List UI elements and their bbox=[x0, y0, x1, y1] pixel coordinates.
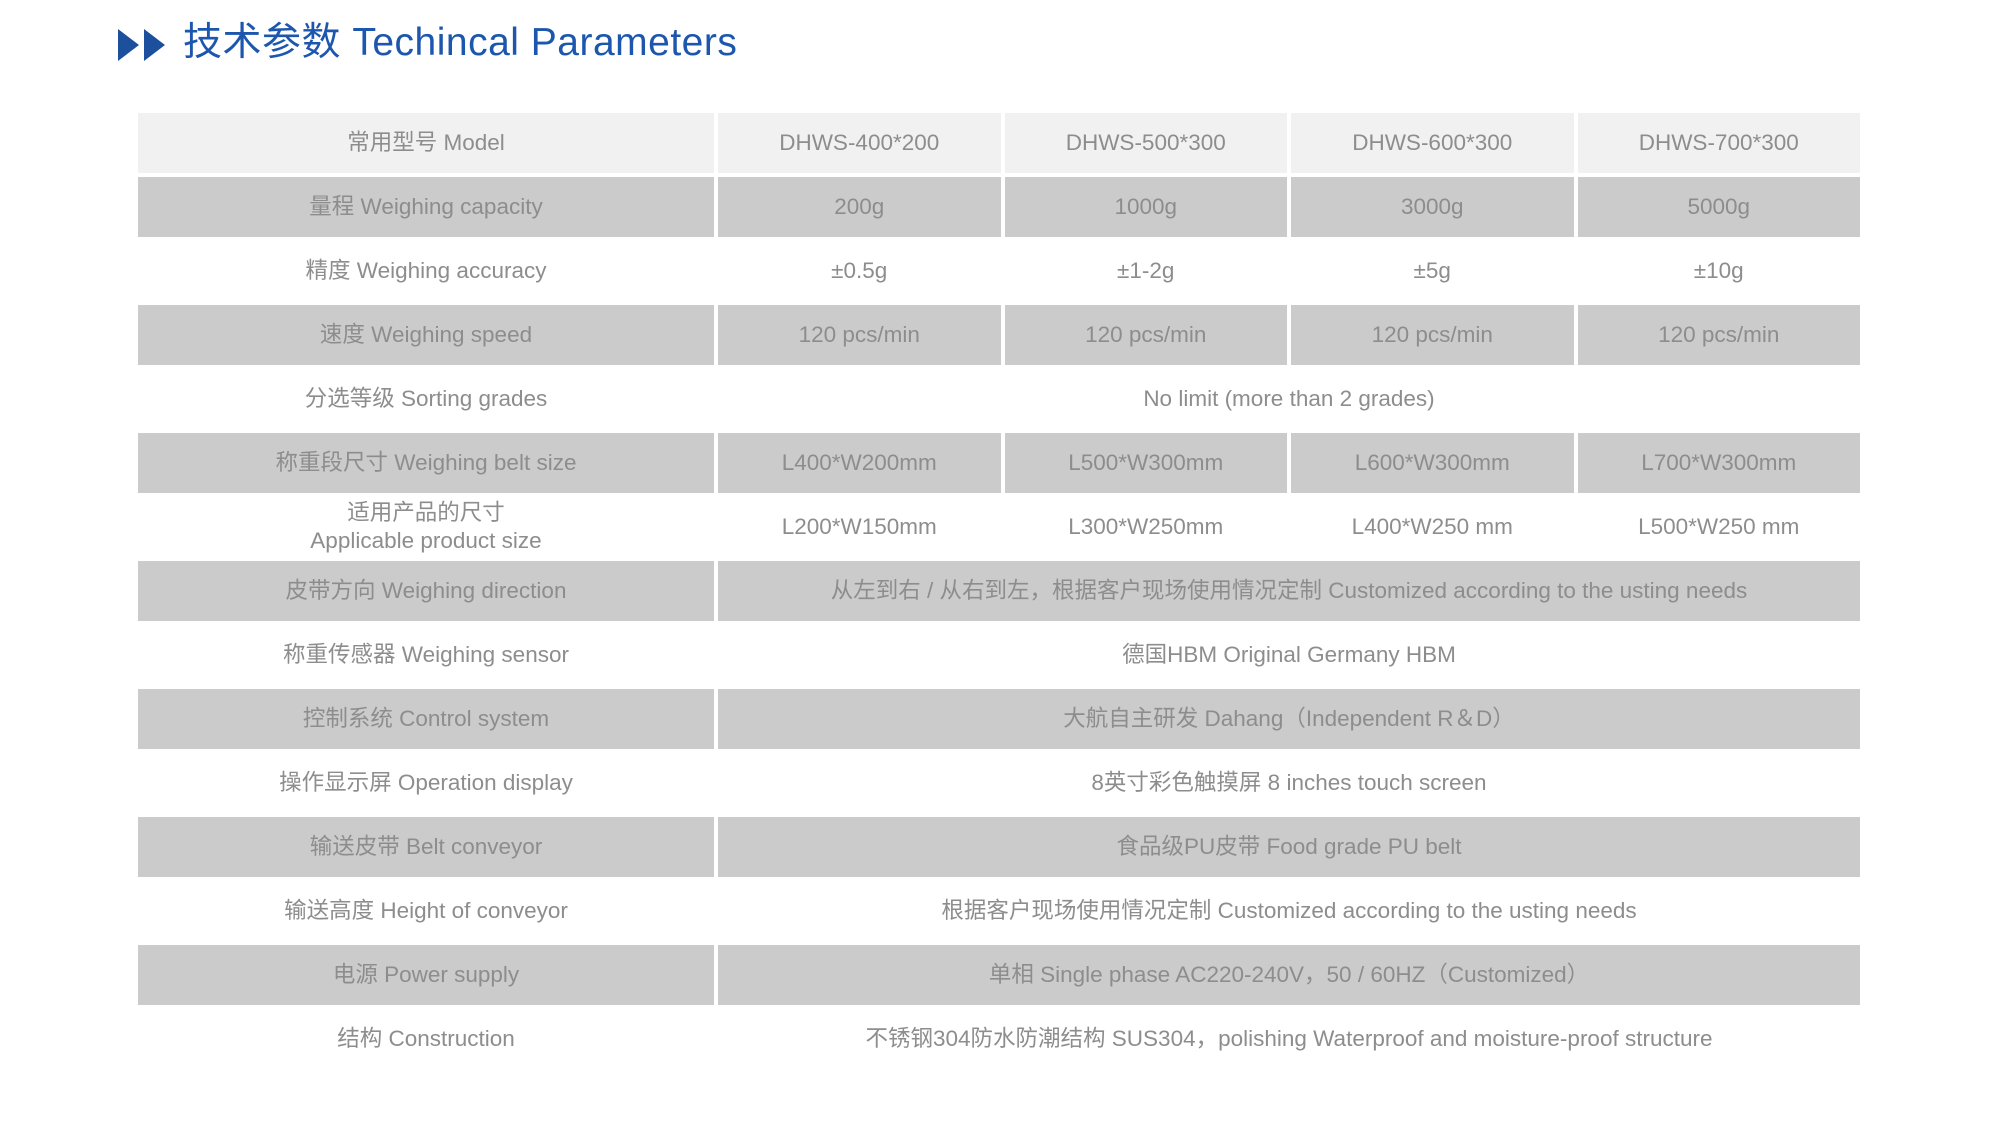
row-label: 输送高度 Height of conveyor bbox=[138, 881, 714, 941]
table-row: 输送皮带 Belt conveyor食品级PU皮带 Food grade PU … bbox=[138, 817, 1860, 877]
row-value-cell: L700*W300mm bbox=[1578, 433, 1861, 493]
row-merged-value: 德国HBM Original Germany HBM bbox=[718, 625, 1860, 685]
page-title: 技术参数 Techincal Parameters bbox=[183, 22, 737, 65]
row-label: 电源 Power supply bbox=[138, 945, 714, 1005]
row-value-cell: 120 pcs/min bbox=[718, 305, 1001, 365]
row-value-cell: 1000g bbox=[1005, 177, 1288, 237]
row-label: 操作显示屏 Operation display bbox=[138, 753, 714, 813]
table-row: 皮带方向 Weighing direction从左到右 / 从右到左，根据客户现… bbox=[138, 561, 1860, 621]
table-row: 称重传感器 Weighing sensor德国HBM Original Germ… bbox=[138, 625, 1860, 685]
row-label-line1: 适用产品的尺寸 bbox=[347, 499, 505, 527]
row-value-cell: L300*W250mm bbox=[1005, 497, 1288, 557]
row-value-cell: ±1-2g bbox=[1005, 241, 1288, 301]
table-row: 输送高度 Height of conveyor根据客户现场使用情况定制 Cust… bbox=[138, 881, 1860, 941]
row-label-line2: Applicable product size bbox=[310, 527, 541, 555]
row-value-cell: 120 pcs/min bbox=[1005, 305, 1288, 365]
column-header-model-1: DHWS-400*200 bbox=[718, 113, 1001, 173]
row-value-cell: L400*W200mm bbox=[718, 433, 1001, 493]
row-value-cell: L500*W300mm bbox=[1005, 433, 1288, 493]
column-header-model-2: DHWS-500*300 bbox=[1005, 113, 1288, 173]
row-label: 分选等级 Sorting grades bbox=[138, 369, 714, 429]
double-right-triangle-icon bbox=[118, 29, 165, 61]
row-label: 称重段尺寸 Weighing belt size bbox=[138, 433, 714, 493]
row-value-cell: 200g bbox=[718, 177, 1001, 237]
row-label: 速度 Weighing speed bbox=[138, 305, 714, 365]
table-row: 操作显示屏 Operation display8英寸彩色触摸屏 8 inches… bbox=[138, 753, 1860, 813]
row-merged-value: 8英寸彩色触摸屏 8 inches touch screen bbox=[718, 753, 1860, 813]
row-label: 结构 Construction bbox=[138, 1009, 714, 1069]
table-row: 适用产品的尺寸Applicable product sizeL200*W150m… bbox=[138, 497, 1860, 557]
row-value-cell: L400*W250 mm bbox=[1291, 497, 1574, 557]
table-header-row: 常用型号 ModelDHWS-400*200DHWS-500*300DHWS-6… bbox=[138, 113, 1860, 173]
row-value-cell: L600*W300mm bbox=[1291, 433, 1574, 493]
row-label: 皮带方向 Weighing direction bbox=[138, 561, 714, 621]
table-row: 速度 Weighing speed120 pcs/min120 pcs/min1… bbox=[138, 305, 1860, 365]
row-label: 控制系统 Control system bbox=[138, 689, 714, 749]
row-label: 输送皮带 Belt conveyor bbox=[138, 817, 714, 877]
row-label: 适用产品的尺寸Applicable product size bbox=[138, 497, 714, 557]
row-merged-value: No limit (more than 2 grades) bbox=[718, 369, 1860, 429]
row-value-cell: 120 pcs/min bbox=[1291, 305, 1574, 365]
row-value-cell: 120 pcs/min bbox=[1578, 305, 1861, 365]
table-row: 精度 Weighing accuracy±0.5g±1-2g±5g±10g bbox=[138, 241, 1860, 301]
column-header-model-label: 常用型号 Model bbox=[138, 113, 714, 173]
table-row: 分选等级 Sorting gradesNo limit (more than 2… bbox=[138, 369, 1860, 429]
technical-parameters-table: 常用型号 ModelDHWS-400*200DHWS-500*300DHWS-6… bbox=[138, 113, 1860, 1073]
row-value-cell: L500*W250 mm bbox=[1578, 497, 1861, 557]
row-merged-value: 不锈钢304防水防潮结构 SUS304，polishing Waterproof… bbox=[718, 1009, 1860, 1069]
row-merged-value: 食品级PU皮带 Food grade PU belt bbox=[718, 817, 1860, 877]
row-label: 精度 Weighing accuracy bbox=[138, 241, 714, 301]
table-row: 称重段尺寸 Weighing belt sizeL400*W200mmL500*… bbox=[138, 433, 1860, 493]
row-merged-value: 从左到右 / 从右到左，根据客户现场使用情况定制 Customized acco… bbox=[718, 561, 1860, 621]
row-label: 称重传感器 Weighing sensor bbox=[138, 625, 714, 685]
table-row: 电源 Power supply单相 Single phase AC220-240… bbox=[138, 945, 1860, 1005]
row-value-cell: 5000g bbox=[1578, 177, 1861, 237]
row-merged-value: 根据客户现场使用情况定制 Customized according to the… bbox=[718, 881, 1860, 941]
table-row: 结构 Construction不锈钢304防水防潮结构 SUS304，polis… bbox=[138, 1009, 1860, 1069]
row-merged-value: 单相 Single phase AC220-240V，50 / 60HZ（Cus… bbox=[718, 945, 1860, 1005]
row-value-cell: ±5g bbox=[1291, 241, 1574, 301]
row-value-cell: 3000g bbox=[1291, 177, 1574, 237]
slide-page: 技术参数 Techincal Parameters 常用型号 ModelDHWS… bbox=[0, 0, 2000, 1121]
column-header-model-4: DHWS-700*300 bbox=[1578, 113, 1861, 173]
table-row: 量程 Weighing capacity200g1000g3000g5000g bbox=[138, 177, 1860, 237]
row-value-cell: L200*W150mm bbox=[718, 497, 1001, 557]
row-label: 量程 Weighing capacity bbox=[138, 177, 714, 237]
row-value-cell: ±10g bbox=[1578, 241, 1861, 301]
page-title-block: 技术参数 Techincal Parameters bbox=[118, 22, 737, 65]
table-row: 控制系统 Control system大航自主研发 Dahang（Indepen… bbox=[138, 689, 1860, 749]
row-merged-value: 大航自主研发 Dahang（Independent R＆D） bbox=[718, 689, 1860, 749]
row-value-cell: ±0.5g bbox=[718, 241, 1001, 301]
column-header-model-3: DHWS-600*300 bbox=[1291, 113, 1574, 173]
